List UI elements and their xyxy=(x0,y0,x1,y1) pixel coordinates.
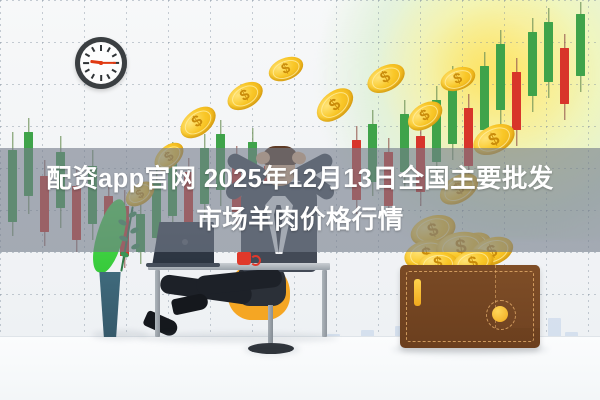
clock-tick xyxy=(91,74,95,79)
candlestick xyxy=(544,8,553,98)
illustration-canvas: $$$$$$$$$$$$$$$ $$$$$ xyxy=(0,0,600,400)
wallet-card xyxy=(414,279,421,306)
candle-body xyxy=(576,14,585,76)
candle-body xyxy=(544,22,553,82)
candlestick xyxy=(576,2,585,92)
candlestick xyxy=(496,30,505,126)
clock-tick xyxy=(83,62,89,64)
clock-tick xyxy=(112,53,117,57)
clock-tick xyxy=(100,45,102,51)
clock-tick xyxy=(85,53,90,57)
clock-center-pin xyxy=(99,61,102,64)
chair-base xyxy=(248,343,294,354)
candlestick xyxy=(560,34,569,120)
clock-tick xyxy=(107,47,111,52)
candlestick xyxy=(528,18,537,112)
clock-minute-hand xyxy=(101,62,116,64)
headline-line-2: 市场羊肉价格行情 xyxy=(196,200,403,241)
page-title: 配资app官网 2025年12月13日全国主要批发 市场羊肉价格行情 xyxy=(0,148,600,252)
candle-body xyxy=(496,44,505,110)
desk-shadow xyxy=(138,333,338,343)
candle-body xyxy=(512,72,521,130)
headline-line-1: 配资app官网 2025年12月13日全国主要批发 xyxy=(46,159,553,200)
candle-body xyxy=(560,48,569,104)
clock-tick xyxy=(85,69,90,73)
coffee-mug xyxy=(237,252,251,265)
wallet-stitching xyxy=(406,271,534,342)
coffee-mug-handle xyxy=(250,255,261,266)
desk-leg xyxy=(322,270,327,337)
candle-body xyxy=(528,32,537,96)
leather-wallet xyxy=(400,265,540,348)
wallet-clasp-button xyxy=(492,306,508,322)
clock-tick xyxy=(91,47,95,52)
clock-tick xyxy=(112,69,117,73)
clock-tick xyxy=(107,74,111,79)
desk-leg xyxy=(155,270,160,337)
wall-clock-icon xyxy=(75,37,127,89)
clock-tick xyxy=(100,75,102,81)
clock-face xyxy=(80,42,122,84)
candle-body xyxy=(480,66,489,130)
laptop-base xyxy=(146,263,220,267)
